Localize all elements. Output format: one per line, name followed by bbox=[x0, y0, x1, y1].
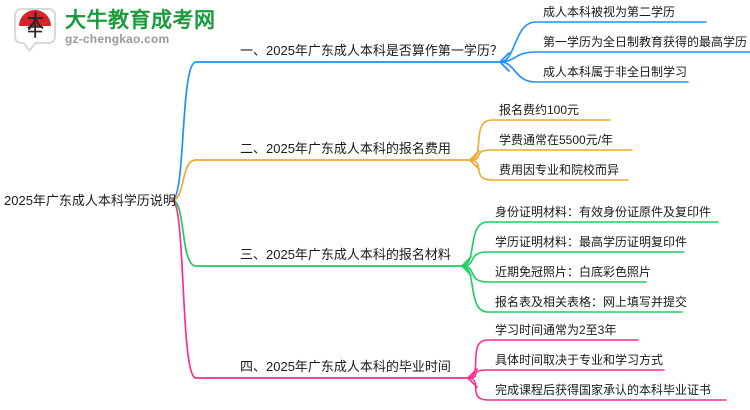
connector-line bbox=[500, 52, 750, 62]
mindmap-leaf-2-1[interactable]: 报名费约100元 bbox=[499, 103, 579, 117]
mindmap-leaf-1-2[interactable]: 第一学历为全日制教育获得的最高学历 bbox=[543, 35, 747, 49]
mindmap-branch-topic-4[interactable]: 四、2025年广东成人本科的毕业时间 bbox=[240, 359, 451, 374]
mindmap-leaf-4-3[interactable]: 完成课程后获得国家承认的本科毕业证书 bbox=[495, 383, 711, 397]
connector-line bbox=[470, 150, 632, 160]
mindmap-leaf-4-1[interactable]: 学习时间通常为2至3年 bbox=[495, 323, 616, 337]
mindmap-leaf-4-2[interactable]: 具体时间取决于专业和学习方式 bbox=[495, 353, 663, 367]
mindmap-leaf-3-4[interactable]: 报名表及相关表格：网上填写并提交 bbox=[495, 295, 687, 309]
mindmap-leaf-1-3[interactable]: 成人本科属于非全日制学习 bbox=[543, 65, 687, 79]
mindmap-branch-topic-1[interactable]: 一、2025年广东成人本科是否算作第一学历？ bbox=[240, 43, 503, 58]
connector-line bbox=[462, 252, 684, 266]
mindmap-root-topic[interactable]: 2025年广东成人本科学历说明 bbox=[4, 193, 176, 208]
connector-line bbox=[172, 200, 468, 378]
mindmap-branch-topic-3[interactable]: 三、2025年广东成人本科的报名材料 bbox=[240, 247, 451, 262]
mindmap-leaf-3-2[interactable]: 学历证明材料：最高学历证明复印件 bbox=[495, 235, 687, 249]
mindmap-leaf-2-3[interactable]: 费用因专业和院校而异 bbox=[499, 163, 619, 177]
mindmap-leaf-3-3[interactable]: 近期免冠照片：白底彩色照片 bbox=[495, 265, 651, 279]
mindmap-leaf-1-1[interactable]: 成人本科被视为第二学历 bbox=[543, 5, 675, 19]
connector-line bbox=[172, 160, 470, 200]
mindmap-branch-topic-2[interactable]: 二、2025年广东成人本科的报名费用 bbox=[240, 141, 451, 156]
connector-line bbox=[172, 62, 500, 200]
mindmap-leaf-3-1[interactable]: 身份证明材料：有效身份证原件及复印件 bbox=[495, 205, 711, 219]
mindmap-canvas: 大 牛 大牛教育成考网 gz-chengkao.com 2025年广东成人本科学… bbox=[0, 0, 750, 410]
connector-line bbox=[468, 370, 664, 378]
mindmap-leaf-2-2[interactable]: 学费通常在5500元/年 bbox=[499, 133, 613, 147]
